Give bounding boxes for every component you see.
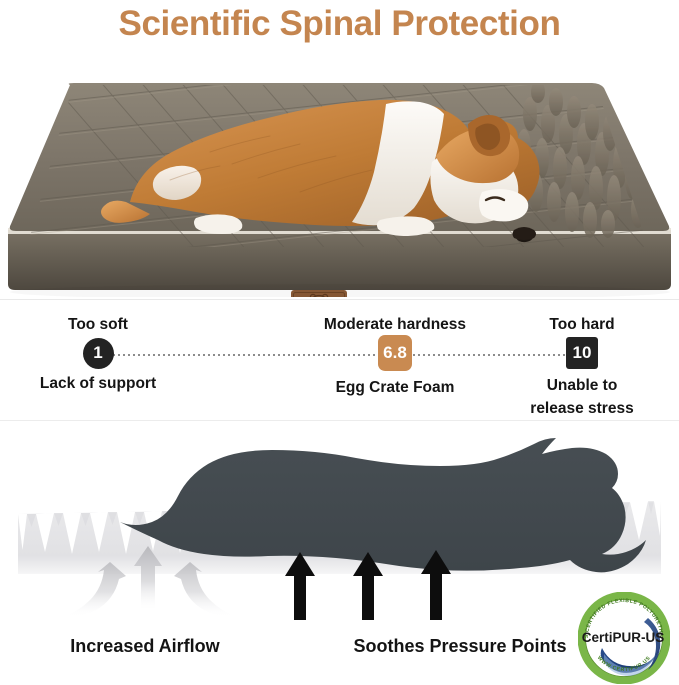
scale-marker-68: 6.8 bbox=[378, 335, 412, 371]
scale-node-caption: Too hard bbox=[502, 315, 662, 334]
scale-node-too-soft: Too soft 1 Lack of support bbox=[18, 315, 178, 393]
scale-node-too-hard: Too hard 10 Unable to release stress bbox=[502, 315, 662, 418]
scale-node-caption: Moderate hardness bbox=[305, 315, 485, 334]
scale-node-sublabel: Egg Crate Foam bbox=[305, 378, 485, 397]
hardness-scale: Too soft 1 Lack of support Moderate hard… bbox=[0, 304, 679, 416]
scale-node-moderate: Moderate hardness 6.8 Egg Crate Foam bbox=[305, 315, 485, 397]
scale-marker-1: 1 bbox=[83, 338, 114, 369]
scale-node-sublabel-line2: release stress bbox=[502, 399, 662, 418]
scale-node-caption: Too soft bbox=[18, 315, 178, 334]
logo-center-text: CertiPUR-US bbox=[582, 630, 665, 645]
scale-node-sublabel-line1: Unable to bbox=[502, 376, 662, 395]
scale-node-sublabel: Lack of support bbox=[18, 374, 178, 393]
page-title: Scientific Spinal Protection bbox=[0, 2, 679, 50]
product-photo bbox=[0, 52, 679, 297]
airflow-caption: Increased Airflow bbox=[10, 636, 280, 657]
pressure-points-caption: Soothes Pressure Points bbox=[335, 636, 585, 657]
section-divider-bottom bbox=[0, 420, 679, 421]
dog-silhouette bbox=[120, 438, 646, 572]
scale-marker-10: 10 bbox=[566, 337, 598, 369]
infographic-canvas: Scientific Spinal Protection bbox=[0, 0, 679, 685]
certipur-us-logo: CONTAINS CERTIFIED FLEXIBLE POLYURETHANE… bbox=[578, 592, 670, 684]
section-divider-top bbox=[0, 299, 679, 300]
